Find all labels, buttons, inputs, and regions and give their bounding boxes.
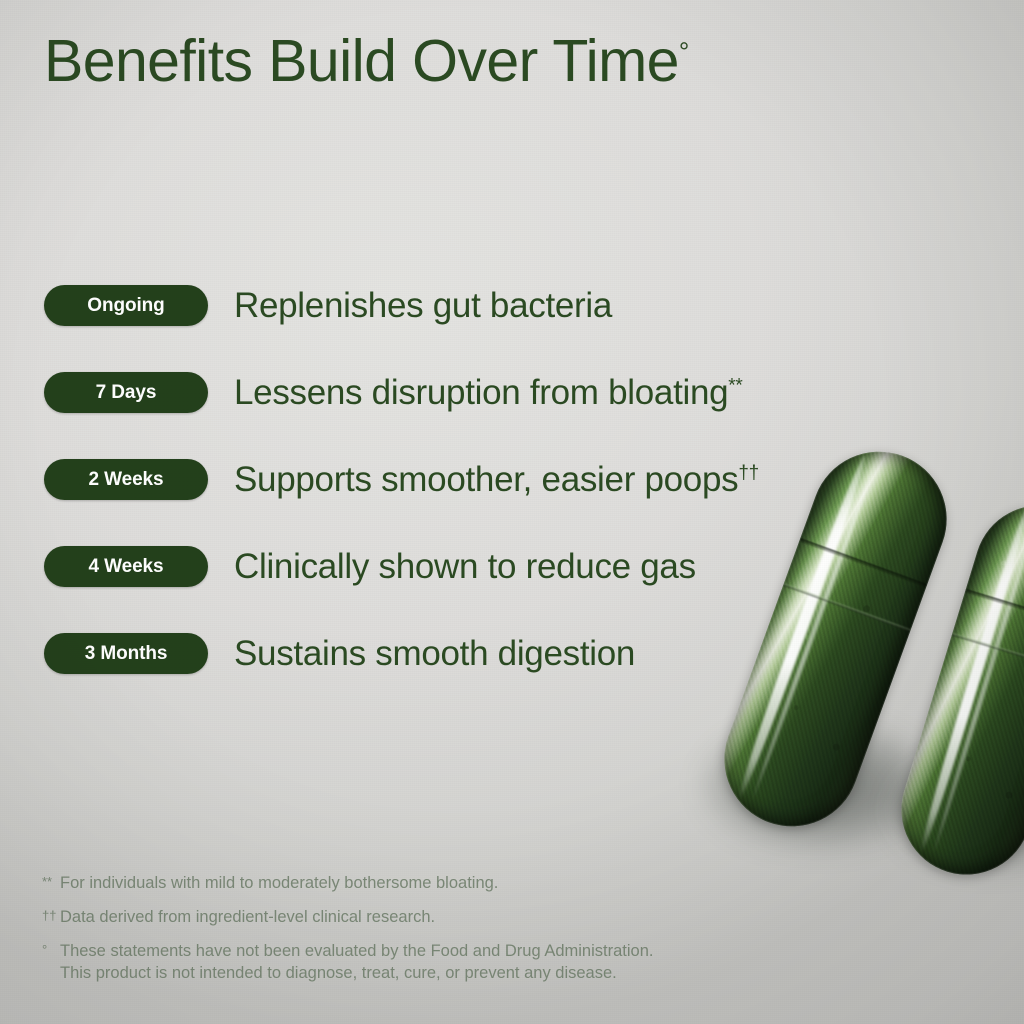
benefit-row: 3 Months Sustains smooth digestion (44, 632, 844, 675)
timeline-badge: Ongoing (44, 285, 208, 326)
benefit-label: Supports smoother, easier poops (234, 460, 738, 499)
capsule-seam (965, 589, 1024, 631)
footnote-item: ° These statements have not been evaluat… (42, 940, 872, 986)
benefit-footnote-marker: †† (738, 462, 759, 483)
footnote-marker: ° (42, 940, 60, 986)
footnote-line: This product is not intended to diagnose… (60, 962, 872, 985)
page-title-footnote-marker: ° (679, 36, 689, 66)
capsule-rim (885, 489, 1024, 890)
benefit-text: Lessens disruption from bloating** (234, 373, 743, 413)
capsule-highlight-secondary (931, 513, 1024, 856)
benefit-text: Supports smoother, easier poops†† (234, 460, 759, 500)
capsule-body (885, 489, 1024, 890)
footnote-line: These statements have not been evaluated… (60, 942, 653, 960)
timeline-badge: 3 Months (44, 633, 208, 674)
capsule-shadow (702, 720, 937, 850)
benefit-label: Sustains smooth digestion (234, 634, 635, 673)
timeline-badge: 4 Weeks (44, 546, 208, 587)
footnote-line: Data derived from ingredient-level clini… (60, 908, 435, 926)
timeline-badge: 7 Days (44, 372, 208, 413)
capsule-secondary (885, 489, 1024, 890)
benefit-row: 7 Days Lessens disruption from bloating*… (44, 371, 844, 414)
footnotes: ** For individuals with mild to moderate… (42, 872, 872, 985)
footnote-item: †† Data derived from ingredient-level cl… (42, 906, 872, 929)
capsule-band (952, 633, 1024, 674)
footnote-marker: †† (42, 906, 60, 929)
page-title: Benefits Build Over Time° (44, 28, 689, 94)
footnote-marker: ** (42, 872, 60, 895)
benefit-text: Clinically shown to reduce gas (234, 547, 696, 587)
benefit-label: Clinically shown to reduce gas (234, 547, 696, 586)
benefit-text: Sustains smooth digestion (234, 634, 635, 674)
benefit-row: 4 Weeks Clinically shown to reduce gas (44, 545, 844, 588)
footnote-text: Data derived from ingredient-level clini… (60, 906, 872, 929)
capsule-highlight (916, 509, 1024, 854)
benefits-list: Ongoing Replenishes gut bacteria 7 Days … (44, 284, 844, 675)
benefit-row: 2 Weeks Supports smoother, easier poops†… (44, 458, 844, 501)
benefits-timeline-card: Benefits Build Over Time° Ongoing Replen… (0, 0, 1024, 1024)
benefit-label: Replenishes gut bacteria (234, 286, 612, 325)
benefit-text: Replenishes gut bacteria (234, 286, 612, 326)
capsule-shadow (890, 750, 1024, 870)
benefit-footnote-marker: ** (728, 375, 742, 396)
benefit-row: Ongoing Replenishes gut bacteria (44, 284, 844, 327)
page-title-text: Benefits Build Over Time (44, 28, 679, 94)
footnote-item: ** For individuals with mild to moderate… (42, 872, 872, 895)
timeline-badge: 2 Weeks (44, 459, 208, 500)
benefit-label: Lessens disruption from bloating (234, 373, 728, 412)
footnote-line: For individuals with mild to moderately … (60, 874, 498, 892)
footnote-text: For individuals with mild to moderately … (60, 872, 872, 895)
capsule-texture (885, 489, 1024, 890)
footnote-text: These statements have not been evaluated… (60, 940, 872, 986)
